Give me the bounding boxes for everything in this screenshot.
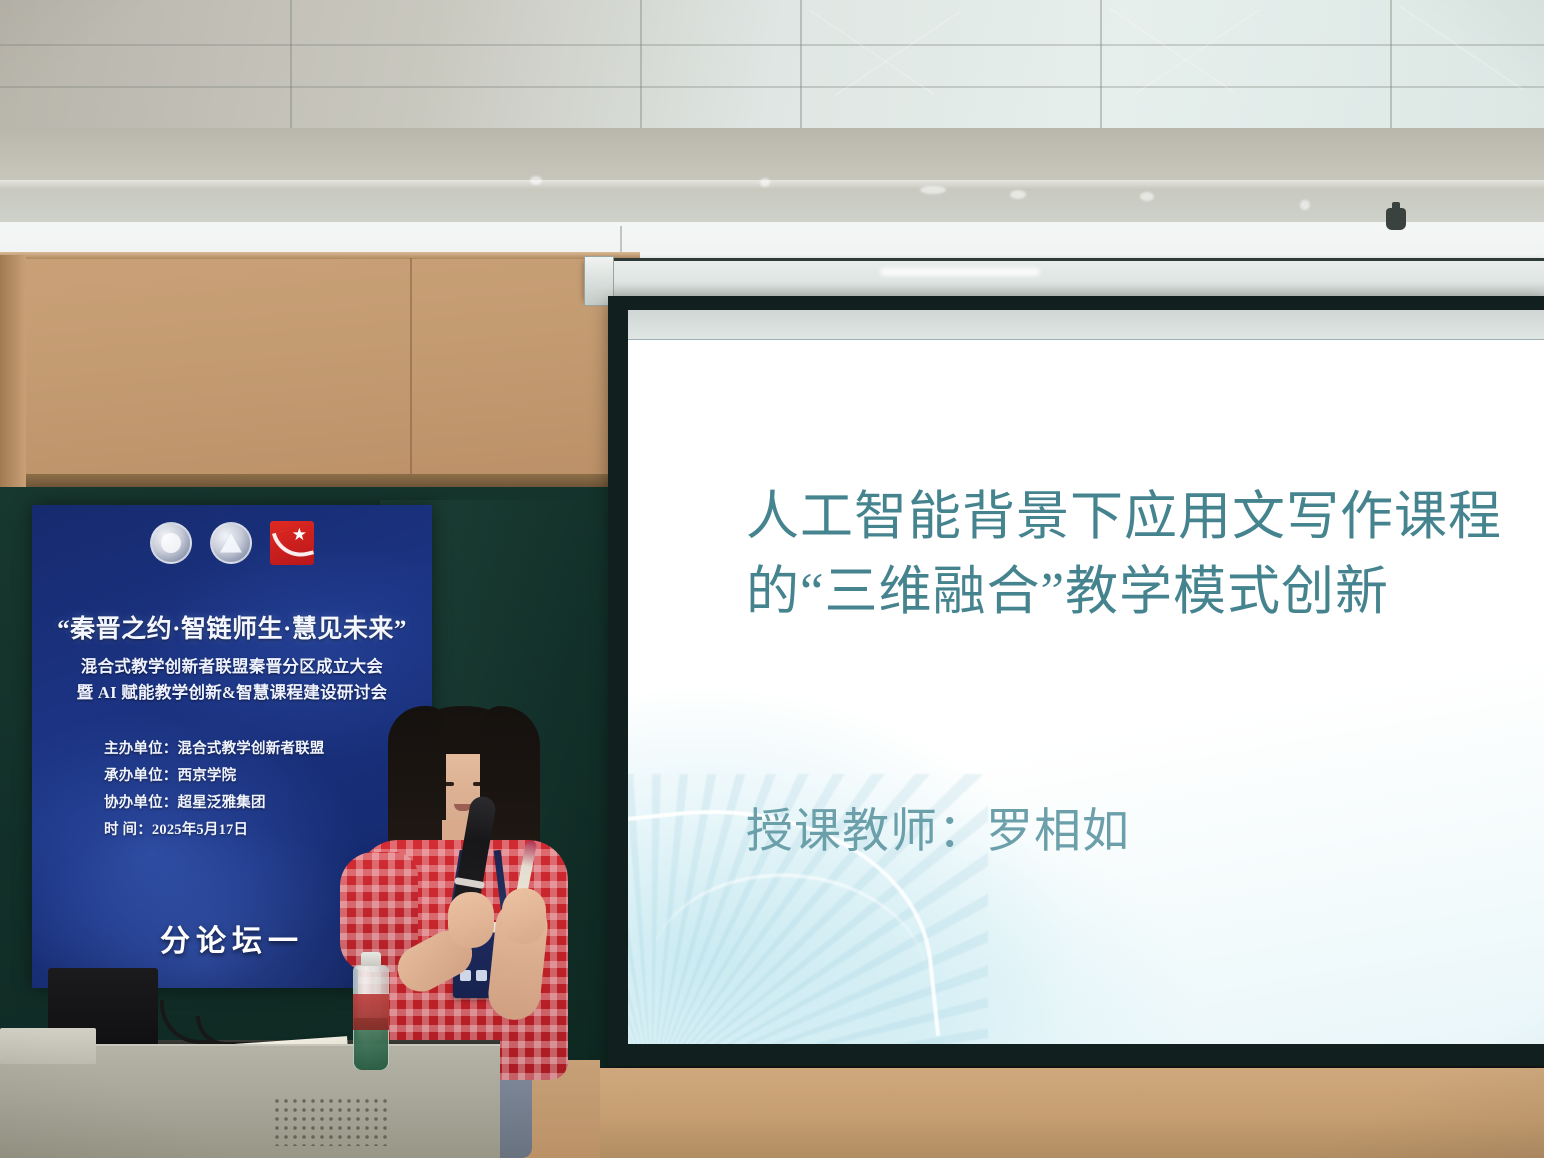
ceiling-soffit <box>0 128 1544 228</box>
slide-title-line-1: 人工智能背景下应用文写作课程 <box>746 480 1544 555</box>
university-seal-logo <box>150 522 192 564</box>
banner-logo-row: ★ <box>32 521 432 565</box>
wood-wall-lower-right <box>584 1068 1544 1158</box>
screen-top-band <box>628 310 1544 340</box>
presentation-slide: 人工智能背景下应用文写作课程 的“三维融合”教学模式创新 授课教师：罗相如 <box>628 340 1544 1044</box>
banner-subtitle-line-1: 混合式教学创新者联盟秦晋分区成立大会 <box>32 653 432 677</box>
lecture-hall-photo: ★ “秦晋之约·智链师生·慧见未来” 混合式教学创新者联盟秦晋分区成立大会 暨 … <box>0 0 1544 1158</box>
projection-screen-frame: 人工智能背景下应用文写作课程 的“三维融合”教学模式创新 授课教师：罗相如 <box>608 296 1544 1066</box>
banner-slogan: “秦晋之约·智链师生·慧见未来” <box>32 609 432 645</box>
podium-side-panel <box>0 1028 96 1064</box>
podium-speaker-grille <box>274 1098 390 1146</box>
presenter-hand-right <box>502 888 546 944</box>
wall-left-edge <box>0 255 26 495</box>
wood-trim-top <box>0 252 640 259</box>
wood-panel-seam <box>410 258 412 486</box>
slide-title-line-2: 的“三维融合”教学模式创新 <box>746 555 1544 630</box>
slide-presenter-line: 授课教师：罗相如 <box>746 792 1130 861</box>
soffit-light-strip <box>0 180 1544 190</box>
projection-screen-surface: 人工智能背景下应用文写作课程 的“三维融合”教学模式创新 授课教师：罗相如 <box>628 310 1544 1044</box>
projector-screen-housing <box>584 258 1544 298</box>
water-bottle <box>352 952 390 1070</box>
sprinkler-head-icon <box>1386 208 1406 230</box>
presenter-hand-left <box>448 892 494 948</box>
housing-highlight <box>880 268 1040 276</box>
wood-wall-upper <box>0 255 640 487</box>
wood-trim-bottom <box>0 474 640 488</box>
alliance-triangle-logo <box>210 522 252 564</box>
chaoxing-star-logo: ★ <box>270 521 314 565</box>
slide-title: 人工智能背景下应用文写作课程 的“三维融合”教学模式创新 <box>746 480 1544 631</box>
